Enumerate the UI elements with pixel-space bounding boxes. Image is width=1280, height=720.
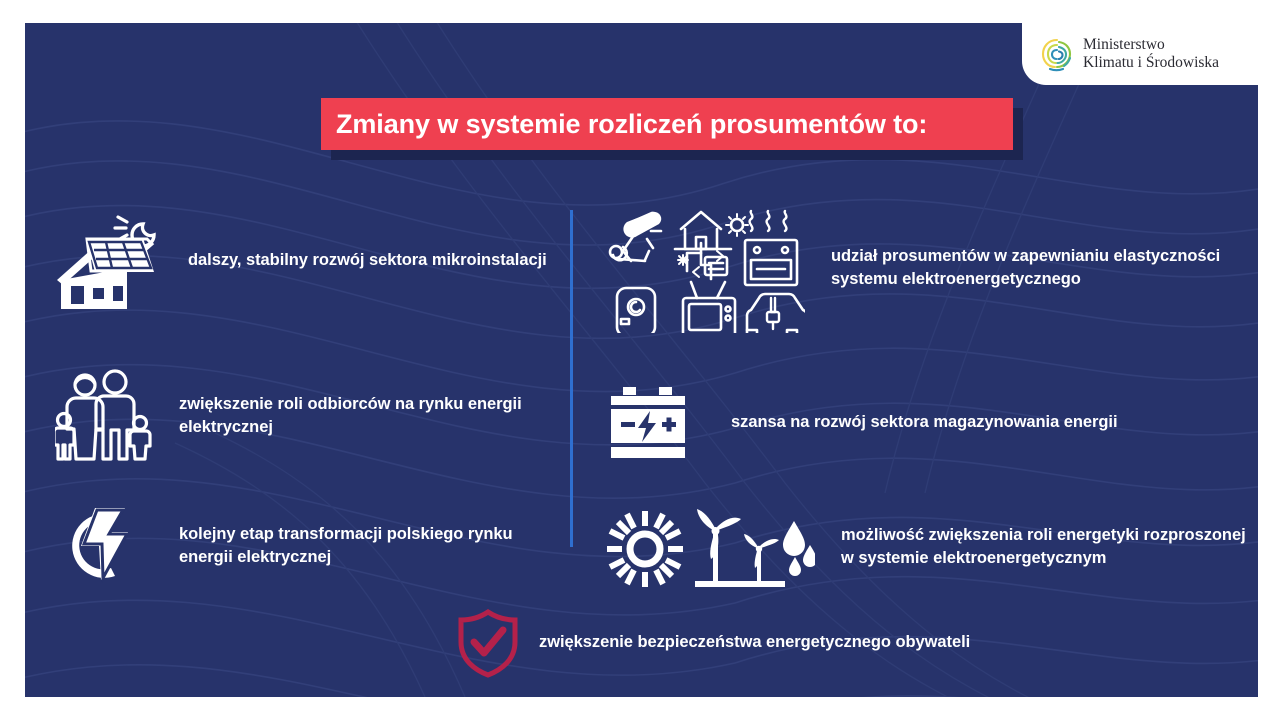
list-item-right-1: udział prosumentów w zapewnianiu elastyc… (605, 203, 1245, 333)
list-item-left-3-label: kolejny etap transformacji polskiego ryn… (179, 523, 555, 570)
slide-canvas: Ministerstwo Klimatu i Środowiska Zmiany… (25, 23, 1258, 697)
list-item-left-3: kolejny etap transformacji polskiego ryn… (55, 506, 555, 586)
home-appliances-grid-icon (605, 203, 805, 333)
list-item-left-2: zwiększenie roli odbiorców na rynku ener… (55, 368, 555, 464)
family-group-icon (55, 368, 155, 464)
column-divider (570, 210, 573, 547)
house-with-solar-panels-icon (55, 208, 170, 314)
ministry-logo-plate: Ministerstwo Klimatu i Środowiska (1022, 23, 1258, 85)
logo-line-2: Klimatu i Środowiska (1083, 54, 1219, 72)
list-item-bottom-1: zwiększenie bezpieczeństwa energetyczneg… (455, 608, 1015, 678)
lightning-bolt-circle-icon (55, 506, 155, 586)
list-item-right-3-label: możliwość zwiększenia roli energetyki ro… (841, 524, 1255, 571)
list-item-right-2: szansa na rozwój sektora magazynowania e… (605, 385, 1255, 461)
title-banner-wrapper: Zmiany w systemie rozliczeń prosumentów … (321, 98, 1013, 150)
list-item-right-2-label: szansa na rozwój sektora magazynowania e… (731, 411, 1118, 434)
list-item-bottom-1-label: zwiększenie bezpieczeństwa energetyczneg… (539, 631, 970, 654)
shield-check-icon (455, 608, 521, 678)
page-title: Zmiany w systemie rozliczeń prosumentów … (336, 109, 927, 140)
list-item-right-3: możliwość zwiększenia roli energetyki ro… (605, 501, 1255, 593)
renewables-sun-wind-water-icon (605, 501, 815, 593)
battery-storage-icon (605, 385, 705, 461)
ministry-swirl-icon (1040, 36, 1074, 72)
list-item-left-1: dalszy, stabilny rozwój sektora mikroins… (55, 208, 555, 314)
list-item-left-1-label: dalszy, stabilny rozwój sektora mikroins… (188, 249, 547, 272)
title-banner: Zmiany w systemie rozliczeń prosumentów … (321, 98, 1013, 150)
list-item-right-1-label: udział prosumentów w zapewnianiu elastyc… (831, 245, 1245, 292)
logo-line-1: Ministerstwo (1083, 36, 1219, 54)
list-item-left-2-label: zwiększenie roli odbiorców na rynku ener… (179, 393, 555, 440)
